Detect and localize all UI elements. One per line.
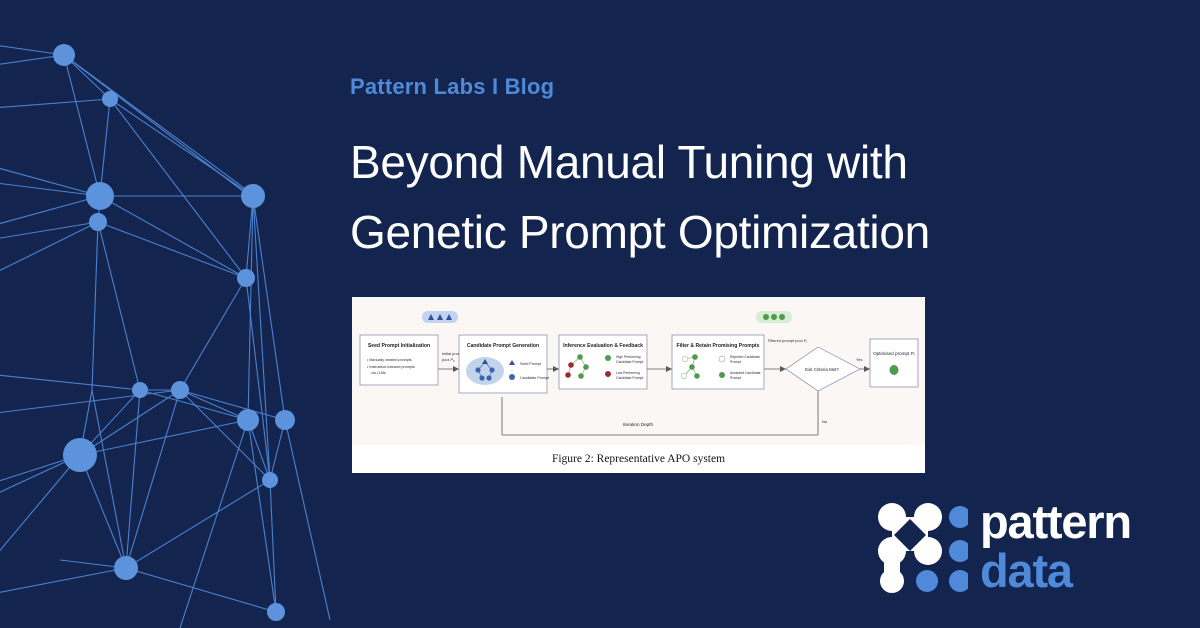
svg-text:No: No (822, 419, 828, 424)
network-node (132, 382, 148, 398)
network-node (237, 409, 259, 431)
network-node (267, 603, 285, 621)
svg-text:Filter & Retain Promising Prom: Filter & Retain Promising Prompts (677, 343, 760, 349)
network-node (86, 182, 114, 210)
figure-box-optimised-prompt: Optimised prompt P* (870, 339, 918, 387)
figure-box-inference-evaluation-feedback: Inference Evaluation & Feedback High Per… (559, 335, 647, 389)
svg-text:Candidate Prompt: Candidate Prompt (616, 360, 643, 364)
svg-text:Prompt: Prompt (730, 360, 741, 364)
logo-word-data: data (980, 546, 1170, 595)
network-node (102, 91, 118, 107)
network-node (241, 184, 265, 208)
svg-text:Low Performing: Low Performing (616, 371, 640, 375)
svg-text:Candidate Prompt Generation: Candidate Prompt Generation (467, 343, 539, 349)
svg-text:via LLMs: via LLMs (371, 371, 386, 375)
pattern-data-logo: pattern data (876, 497, 1166, 597)
svg-text:• Manually created prompts: • Manually created prompts (367, 358, 412, 362)
blog-eyebrow: Pattern Labs I Blog (350, 74, 554, 100)
svg-text:Rejected Candidate: Rejected Candidate (730, 355, 760, 359)
svg-text:Yes: Yes (856, 357, 863, 362)
network-node (63, 438, 97, 472)
figure-box-seed-prompt-initialization: Seed Prompt Initialization • Manually cr… (360, 335, 438, 385)
figure-card: Seed Prompt Initialization • Manually cr… (352, 297, 925, 473)
svg-text:Exit Criteria Met?: Exit Criteria Met? (805, 367, 839, 372)
seed-prompt-pill (422, 311, 458, 323)
final-prompt-pill (756, 311, 792, 323)
network-node (237, 269, 255, 287)
svg-text:Seed Prompt: Seed Prompt (520, 362, 541, 366)
network-graphic (0, 0, 345, 628)
blog-card-canvas: Pattern Labs I Blog Beyond Manual Tuning… (0, 0, 1200, 628)
headline-line-1: Beyond Manual Tuning with (350, 127, 1070, 197)
figure-box-filter-retain-promising-prompts: Filter & Retain Promising Prompts Reject… (672, 335, 764, 389)
network-node (262, 472, 278, 488)
svg-text:High Performing: High Performing (616, 355, 641, 359)
svg-text:Iteration Depth: Iteration Depth (623, 422, 654, 427)
svg-text:Accepted Candidate: Accepted Candidate (730, 371, 761, 375)
svg-text:Inference Evaluation & Feedbac: Inference Evaluation & Feedback (563, 343, 643, 349)
svg-text:Candidate Prompt: Candidate Prompt (520, 376, 549, 380)
headline-line-2: Genetic Prompt Optimization (350, 197, 1070, 267)
logo-wordmark: pattern data (980, 497, 1170, 597)
network-node (53, 44, 75, 66)
logo-word-pattern: pattern (980, 497, 1170, 546)
figure-diagram: Seed Prompt Initialization • Manually cr… (352, 297, 925, 445)
network-node (114, 556, 138, 580)
page-title: Beyond Manual Tuning with Genetic Prompt… (350, 127, 1070, 267)
svg-text:• Instruction-induced prompts: • Instruction-induced prompts (367, 365, 415, 369)
network-node (275, 410, 295, 430)
network-node (171, 381, 189, 399)
figure-box-candidate-prompt-generation: Candidate Prompt Generation Seed Prompt (459, 335, 549, 393)
svg-text:Seed Prompt Initialization: Seed Prompt Initialization (368, 343, 430, 349)
network-node (89, 213, 107, 231)
pattern-data-mark-icon (876, 501, 968, 593)
svg-text:Prompt: Prompt (730, 376, 741, 380)
figure-caption: Figure 2: Representative APO system (352, 445, 925, 473)
svg-text:Candidate Prompt: Candidate Prompt (616, 376, 643, 380)
